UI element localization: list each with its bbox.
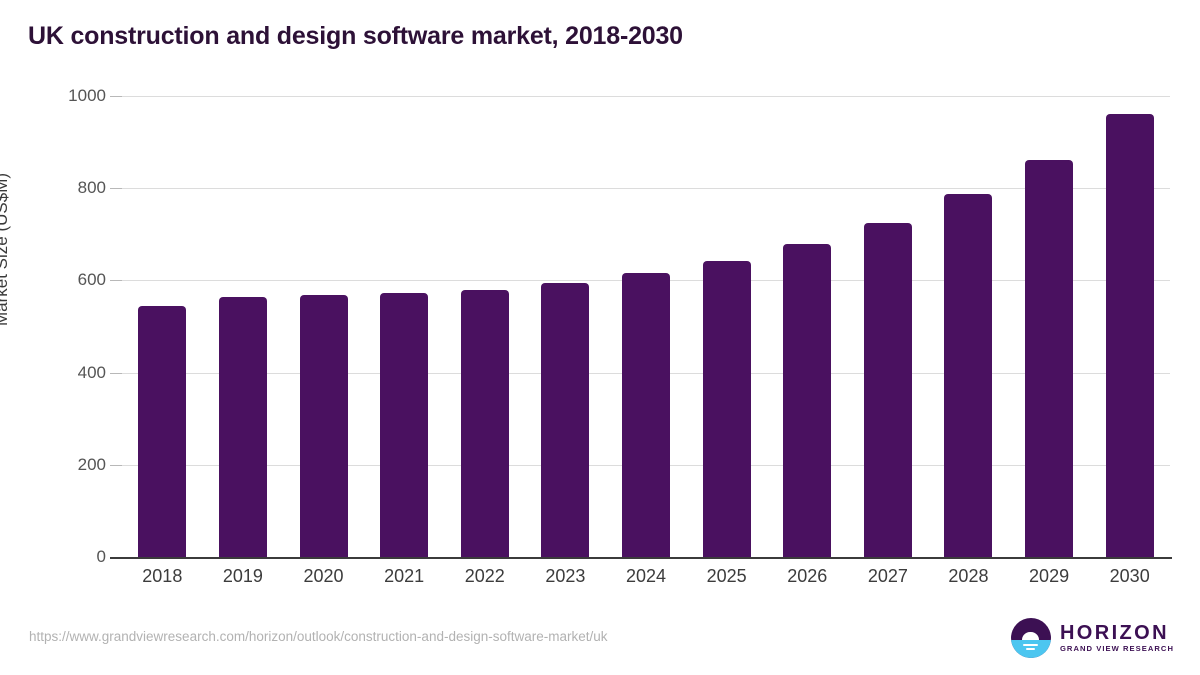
bar-group (848, 96, 929, 557)
logo-text-block: HORIZON GRAND VIEW RESEARCH (1060, 623, 1174, 653)
logo-wordmark: HORIZON (1060, 623, 1174, 644)
bar-group (444, 96, 525, 557)
x-tick-label-2021: 2021 (364, 566, 445, 587)
y-tick-label: 600 (36, 270, 106, 290)
x-tick-label-2018: 2018 (122, 566, 203, 587)
bar-group (1009, 96, 1090, 557)
x-tick-label-2019: 2019 (203, 566, 284, 587)
logo-tagline: GRAND VIEW RESEARCH (1060, 644, 1174, 653)
bar-2022[interactable] (461, 290, 509, 557)
bar-group (203, 96, 284, 557)
x-tick-label-2025: 2025 (686, 566, 767, 587)
x-tick-label-2028: 2028 (928, 566, 1009, 587)
y-tick-label: 1000 (36, 86, 106, 106)
logo-sun-shape (1022, 632, 1039, 641)
y-tick-label: 200 (36, 455, 106, 475)
logo-ray-line-2 (1026, 648, 1035, 650)
bar-2020[interactable] (300, 295, 348, 557)
source-url[interactable]: https://www.grandviewresearch.com/horizo… (29, 629, 608, 644)
bar-2019[interactable] (219, 297, 267, 557)
bar-2028[interactable] (944, 194, 992, 557)
bar-group (686, 96, 767, 557)
bar-2027[interactable] (864, 223, 912, 557)
bar-group (283, 96, 364, 557)
y-axis-title: Market Size (US$M) (0, 173, 12, 326)
y-tick-mark (110, 96, 122, 97)
x-tick-label-2026: 2026 (767, 566, 848, 587)
bar-2025[interactable] (703, 261, 751, 557)
y-tick-mark (110, 280, 122, 281)
bar-2018[interactable] (138, 306, 186, 557)
x-tick-label-2020: 2020 (283, 566, 364, 587)
bar-group (767, 96, 848, 557)
page-title: UK construction and design software mark… (28, 22, 683, 51)
bar-group (928, 96, 1009, 557)
bar-2023[interactable] (541, 283, 589, 557)
bar-group (122, 96, 203, 557)
x-tick-label-2022: 2022 (444, 566, 525, 587)
bar-2030[interactable] (1106, 114, 1154, 557)
x-tick-label-2023: 2023 (525, 566, 606, 587)
bar-2029[interactable] (1025, 160, 1073, 557)
y-tick-mark (110, 373, 122, 374)
y-tick-mark (110, 188, 122, 189)
x-tick-label-2027: 2027 (848, 566, 929, 587)
chart-canvas: UK construction and design software mark… (0, 0, 1200, 675)
x-tick-label-2029: 2029 (1009, 566, 1090, 587)
bar-group (364, 96, 445, 557)
y-tick-label: 0 (36, 547, 106, 567)
y-tick-mark (110, 465, 122, 466)
y-tick-label: 400 (36, 363, 106, 383)
x-axis-line (110, 557, 1172, 559)
bar-2026[interactable] (783, 244, 831, 557)
bar-group (525, 96, 606, 557)
bar-group (1089, 96, 1170, 557)
bar-series (122, 96, 1170, 557)
logo-ray-line-1 (1023, 644, 1038, 646)
horizon-logo: HORIZON GRAND VIEW RESEARCH (1011, 617, 1174, 659)
horizon-sunset-icon (1011, 618, 1051, 658)
x-tick-label-2030: 2030 (1089, 566, 1170, 587)
bar-2024[interactable] (622, 273, 670, 557)
bar-2021[interactable] (380, 293, 428, 557)
x-tick-label-2024: 2024 (606, 566, 687, 587)
bar-group (606, 96, 687, 557)
y-tick-label: 800 (36, 178, 106, 198)
